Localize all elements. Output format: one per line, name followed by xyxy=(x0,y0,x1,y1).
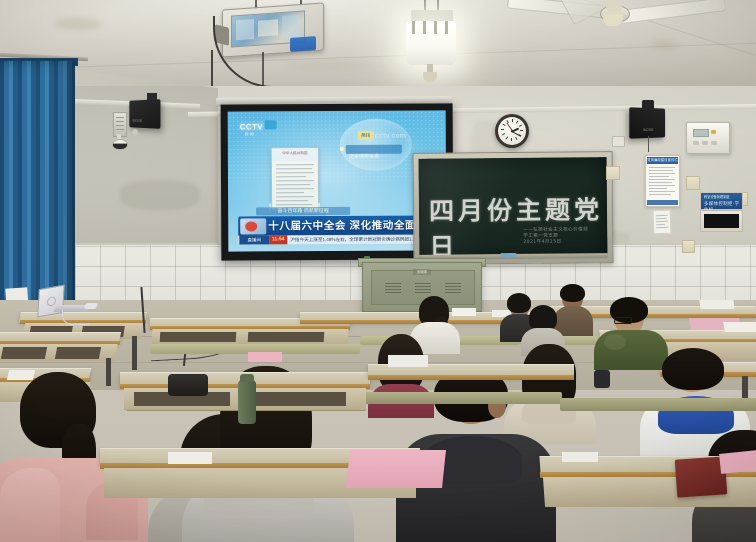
light-bulb-icon xyxy=(423,72,437,82)
cctv-watermark: cctv.com xyxy=(375,133,406,140)
crawl-time-text: 11:54 xyxy=(269,235,287,244)
cctv-sublabel: 新闻 xyxy=(245,131,255,137)
white-paper xyxy=(723,322,756,332)
desk-shelf xyxy=(248,332,325,342)
podium-label-text: 多媒体 xyxy=(413,269,431,275)
crawl-time: 11:54 xyxy=(269,235,287,244)
desk-edge xyxy=(368,375,574,380)
wall-control-unit[interactable] xyxy=(686,122,730,154)
fan-motor-housing xyxy=(606,0,622,12)
bullet-icon xyxy=(340,147,344,151)
ceiling-stain xyxy=(650,40,678,50)
clock-face xyxy=(498,117,526,145)
poster-footer xyxy=(647,200,678,205)
wall-display-panel xyxy=(700,210,743,232)
control-display xyxy=(693,129,709,137)
status-led-icon xyxy=(711,130,716,134)
cctv-logo: CCTV xyxy=(240,122,263,131)
scroll-document-graphic: 中华人民共和国 xyxy=(271,147,319,211)
fan-light-cover xyxy=(603,14,623,26)
news-logo-dot xyxy=(245,221,257,231)
eraser-icon[interactable] xyxy=(500,253,516,257)
desk-shelf xyxy=(160,332,237,342)
bench-seat xyxy=(362,392,562,404)
label-board-top-text: 教室设备管理制度 xyxy=(704,195,730,199)
panel-screen xyxy=(704,214,739,228)
blackboard-surface: 四月份主题党日 ——弘扬社会主义核心价值观 学工第一党支部 2021年4月15日 xyxy=(419,157,608,259)
speaker-brand: BOSE xyxy=(133,118,143,123)
crawl-label-text: 直播间 xyxy=(239,235,269,244)
wall-outlet[interactable] xyxy=(682,240,695,253)
dome-camera-icon xyxy=(112,139,128,150)
screen-segment-label: 坚定理想信念 xyxy=(346,145,402,154)
paper-notice xyxy=(653,210,672,235)
poster-title: 党风廉政建设宣传栏 xyxy=(647,157,678,164)
desk-shelf xyxy=(1,347,47,359)
news-crawl-bar: 直播间 11:54 沪指今天上涨至1.48%左右，全球累计新冠肺炎确诊病例超1.… xyxy=(238,234,438,244)
classroom-photo: CCTV 新闻 cctv.com 简讯 坚定理想信念 中华人民共和国 xyxy=(0,0,756,542)
equipment-label-board: 教室设备管理制度 多媒体控制柜·学生机 xyxy=(700,192,743,210)
left-wall-speaker: BOSE xyxy=(129,99,160,129)
green-thermos xyxy=(238,380,256,424)
screen-segment-text: 坚定理想信念 xyxy=(346,154,379,160)
thermos-lid xyxy=(240,374,254,382)
laptop-screen[interactable] xyxy=(37,285,64,318)
poster-header: 党风廉政建设宣传栏 xyxy=(647,157,678,164)
wall-outlet[interactable] xyxy=(606,166,620,180)
clock-minute-hand xyxy=(512,130,522,136)
desk-leg xyxy=(132,336,137,370)
white-paper xyxy=(562,452,598,462)
right-wall-speaker: BOSE xyxy=(629,107,665,138)
crawl-label: 直播间 xyxy=(239,235,269,244)
screen-subtitle-band: 奋斗百年路 启航新征程 xyxy=(256,207,350,215)
bench-seat xyxy=(560,398,756,411)
black-thermos xyxy=(594,370,610,388)
news-headline-banner: 十八届六中全会 深化推动全面从严治党 xyxy=(238,215,438,236)
blackboard-subtitle: ——弘扬社会主义核心价值观 学工第一党支部 2021年4月15日 xyxy=(523,227,588,246)
desk-shelf xyxy=(250,392,346,406)
screen-pill-text: 简讯 xyxy=(358,131,374,140)
fluorescent-light-icon xyxy=(406,21,456,65)
screen-subtitle-text: 奋斗百年路 启航新征程 xyxy=(256,207,350,215)
window-curtain[interactable] xyxy=(0,61,75,307)
pink-handout xyxy=(719,450,756,474)
wall-outlet[interactable] xyxy=(686,176,700,190)
white-paper xyxy=(168,452,212,464)
wall-bracket-plate xyxy=(612,136,625,147)
pink-handout xyxy=(346,450,446,488)
podium-label: 多媒体 xyxy=(413,269,431,275)
speaker-brand: BOSE xyxy=(643,127,653,132)
white-paper xyxy=(699,300,734,309)
document-heading: 中华人民共和国 xyxy=(272,148,318,161)
wall-bracket xyxy=(616,112,619,138)
pink-handout xyxy=(248,352,282,362)
backpack xyxy=(168,374,208,396)
screen-pill-label: 简讯 xyxy=(358,131,374,140)
wall-clock xyxy=(495,114,529,148)
desk-shelf xyxy=(55,347,101,359)
channel-badge xyxy=(265,120,277,129)
blackboard-frame: 四月份主题党日 ——弘扬社会主义核心价值观 学工第一党支部 2021年4月15日 xyxy=(413,151,614,265)
laptop-cable xyxy=(62,310,89,325)
notice-poster[interactable]: 党风廉政建设宣传栏 xyxy=(645,155,680,207)
white-paper xyxy=(388,355,428,367)
blackboard-subtitle-line: 2021年4月15日 xyxy=(523,240,588,247)
glasses-icon xyxy=(614,317,632,324)
wall-sensor-icon xyxy=(132,129,138,135)
speaker-wire xyxy=(648,136,649,152)
ceiling-stain xyxy=(55,18,101,30)
